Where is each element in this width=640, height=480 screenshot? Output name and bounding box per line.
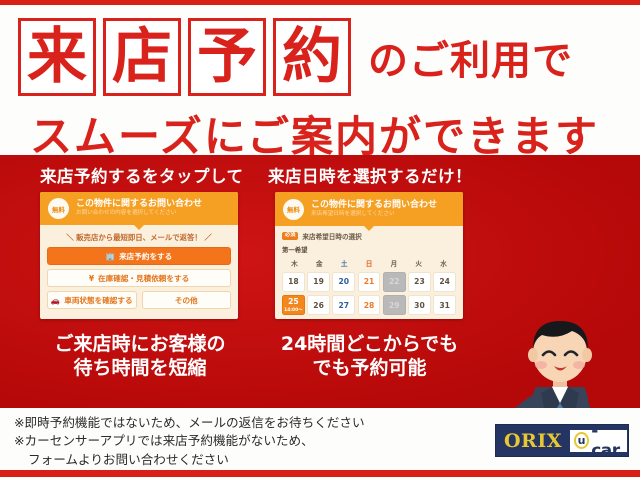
top-red-rule: [0, 0, 640, 5]
headline-char-yaku: 約: [282, 27, 342, 87]
mock-button-list: 🏢 来店予約をする ¥ 在庫確認・見積依頼をする 🚗 車両状態を確認する その他: [40, 243, 238, 315]
mock-sub-line: ＼ 販売店から最短即日、メールで返答！ ／: [40, 232, 238, 243]
header-notch: [364, 226, 374, 231]
date-cell[interactable]: 20: [332, 272, 355, 292]
date-cell[interactable]: 27: [332, 295, 355, 315]
dow-mon: 月: [381, 258, 406, 268]
right-panel-title: 来店日時を選択するだけ！: [268, 163, 472, 187]
headline-boxed-char-4: 約: [273, 18, 351, 96]
left-caption: ご来店時にお客様の 待ち時間を短縮: [20, 333, 260, 381]
vehicle-condition-label: 車両状態を確認する: [64, 295, 132, 306]
other-button[interactable]: その他: [142, 291, 232, 309]
date-cell[interactable]: 24: [433, 272, 456, 292]
mock-orange-header: 無料 この物件に関するお問い合わせ お問い合わせの内容を選択してください: [40, 192, 238, 225]
reserve-visit-button[interactable]: 🏢 来店予約をする: [47, 247, 231, 265]
orix-wordmark: ORIX: [504, 430, 562, 452]
calendar-section-label: 来店希望日時の選択: [302, 231, 361, 241]
store-icon: 🏢: [106, 252, 115, 261]
date-cell-disabled: 22: [383, 272, 406, 292]
headline-boxed-char-2: 店: [103, 18, 181, 96]
free-badge: 無料: [283, 199, 304, 220]
header-notch: [134, 225, 144, 230]
left-caption-line-1: ご来店時にお客様の: [20, 333, 260, 357]
headline-boxed-char-1: 来: [18, 18, 96, 96]
dow-sun: 日: [357, 258, 382, 268]
selected-date-number: 25: [288, 297, 299, 306]
right-caption-line-2: でも予約可能: [262, 357, 477, 381]
yen-icon: ¥: [89, 274, 94, 283]
ucar-badge: u -car: [569, 429, 628, 453]
required-badge: 必須: [282, 232, 298, 240]
date-cell[interactable]: 19: [307, 272, 330, 292]
dow-tue: 火: [406, 258, 431, 268]
date-cell-disabled: 29: [383, 295, 406, 315]
mock-header-main: この物件に関するお問い合わせ: [76, 200, 202, 209]
calendar-header-sub: 来店希望日時を選択してください: [311, 212, 437, 218]
note-line-3: フォームよりお問い合わせください: [14, 451, 464, 469]
other-label: その他: [175, 295, 198, 306]
u-circle-icon: u: [574, 432, 589, 449]
headline-char-yo: 予: [197, 27, 257, 87]
selected-date-time: 14:00〜: [284, 307, 302, 313]
date-cell[interactable]: 28: [358, 295, 381, 315]
dow-fri: 金: [307, 258, 332, 268]
free-badge: 無料: [48, 198, 69, 219]
mock-header-text: この物件に関するお問い合わせ お問い合わせの内容を選択してください: [76, 200, 202, 217]
calendar-week-2: 25 14:00〜 26 27 28 29 30 31: [282, 295, 456, 315]
left-phone-mockup: 無料 この物件に関するお問い合わせ お問い合わせの内容を選択してください ＼ 販…: [40, 192, 238, 319]
left-caption-line-2: 待ち時間を短縮: [20, 357, 260, 381]
calendar-body: 必須 来店希望日時の選択 第一希望 木 金 土 日 月 火 水 18 19 20: [275, 226, 463, 319]
headline-char-rai: 来: [27, 27, 87, 87]
salesman-illustration: [500, 315, 620, 408]
date-cell-selected[interactable]: 25 14:00〜: [282, 295, 305, 315]
right-caption-line-1: 24時間どこからでも: [262, 333, 477, 357]
banner-root: 来 店 予 約 のご利用で スムーズにご案内ができます 来店予約するをタップして…: [0, 0, 640, 480]
calendar-preference-label: 第一希望: [282, 245, 456, 254]
headline-boxed-char-3: 予: [188, 18, 266, 96]
orix-ucar-logo: ORIX u -car: [495, 424, 629, 457]
stock-estimate-button[interactable]: ¥ 在庫確認・見積依頼をする: [47, 269, 231, 287]
calendar-header-main: この物件に関するお問い合わせ: [311, 201, 437, 210]
headline-tail-text: のご利用で: [368, 28, 573, 86]
mock-button-row: 🚗 車両状態を確認する その他: [47, 291, 231, 309]
calendar-header-text: この物件に関するお問い合わせ 来店希望日時を選択してください: [311, 201, 437, 218]
calendar-orange-header: 無料 この物件に関するお問い合わせ 来店希望日時を選択してください: [275, 192, 463, 226]
vehicle-condition-button[interactable]: 🚗 車両状態を確認する: [47, 291, 137, 309]
headline-char-ten: 店: [112, 27, 172, 87]
note-line-2: ※カーセンサーアプリでは来店予約機能がないため、: [14, 432, 464, 450]
date-cell[interactable]: 18: [282, 272, 305, 292]
date-cell[interactable]: 23: [408, 272, 431, 292]
right-phone-mockup: 無料 この物件に関するお問い合わせ 来店希望日時を選択してください 必須 来店希…: [275, 192, 463, 319]
footer-notes: ※即時予約機能ではないため、メールの返信をお待ちください ※カーセンサーアプリで…: [14, 414, 464, 469]
date-cell[interactable]: 26: [307, 295, 330, 315]
stock-estimate-label: 在庫確認・見積依頼をする: [98, 273, 189, 284]
dow-sat: 土: [332, 258, 357, 268]
calendar-label-row: 必須 来店希望日時の選択: [282, 231, 456, 241]
dow-wed: 水: [431, 258, 456, 268]
date-cell[interactable]: 30: [408, 295, 431, 315]
headline-section: 来 店 予 約 のご利用で スムーズにご案内ができます: [0, 8, 640, 153]
car-icon: 🚗: [51, 296, 60, 305]
calendar-week-1: 18 19 20 21 22 23 24: [282, 272, 456, 292]
headline-row-1: 来 店 予 約 のご利用で: [18, 18, 573, 96]
date-cell[interactable]: 21: [358, 272, 381, 292]
left-panel-title: 来店予約するをタップして: [40, 163, 244, 187]
calendar-dow-row: 木 金 土 日 月 火 水: [282, 258, 456, 268]
note-line-1: ※即時予約機能ではないため、メールの返信をお待ちください: [14, 414, 464, 432]
red-feature-block: 来店予約するをタップして 来店日時を選択するだけ！ 無料 この物件に関するお問い…: [0, 155, 640, 408]
bottom-red-rule: [0, 470, 640, 477]
date-cell[interactable]: 31: [433, 295, 456, 315]
mock-header-sub: お問い合わせの内容を選択してください: [76, 211, 202, 217]
reserve-visit-label: 来店予約をする: [119, 251, 172, 262]
ucar-wordmark: -car: [591, 421, 621, 461]
dow-thu: 木: [282, 258, 307, 268]
right-caption: 24時間どこからでも でも予約可能: [262, 333, 477, 381]
